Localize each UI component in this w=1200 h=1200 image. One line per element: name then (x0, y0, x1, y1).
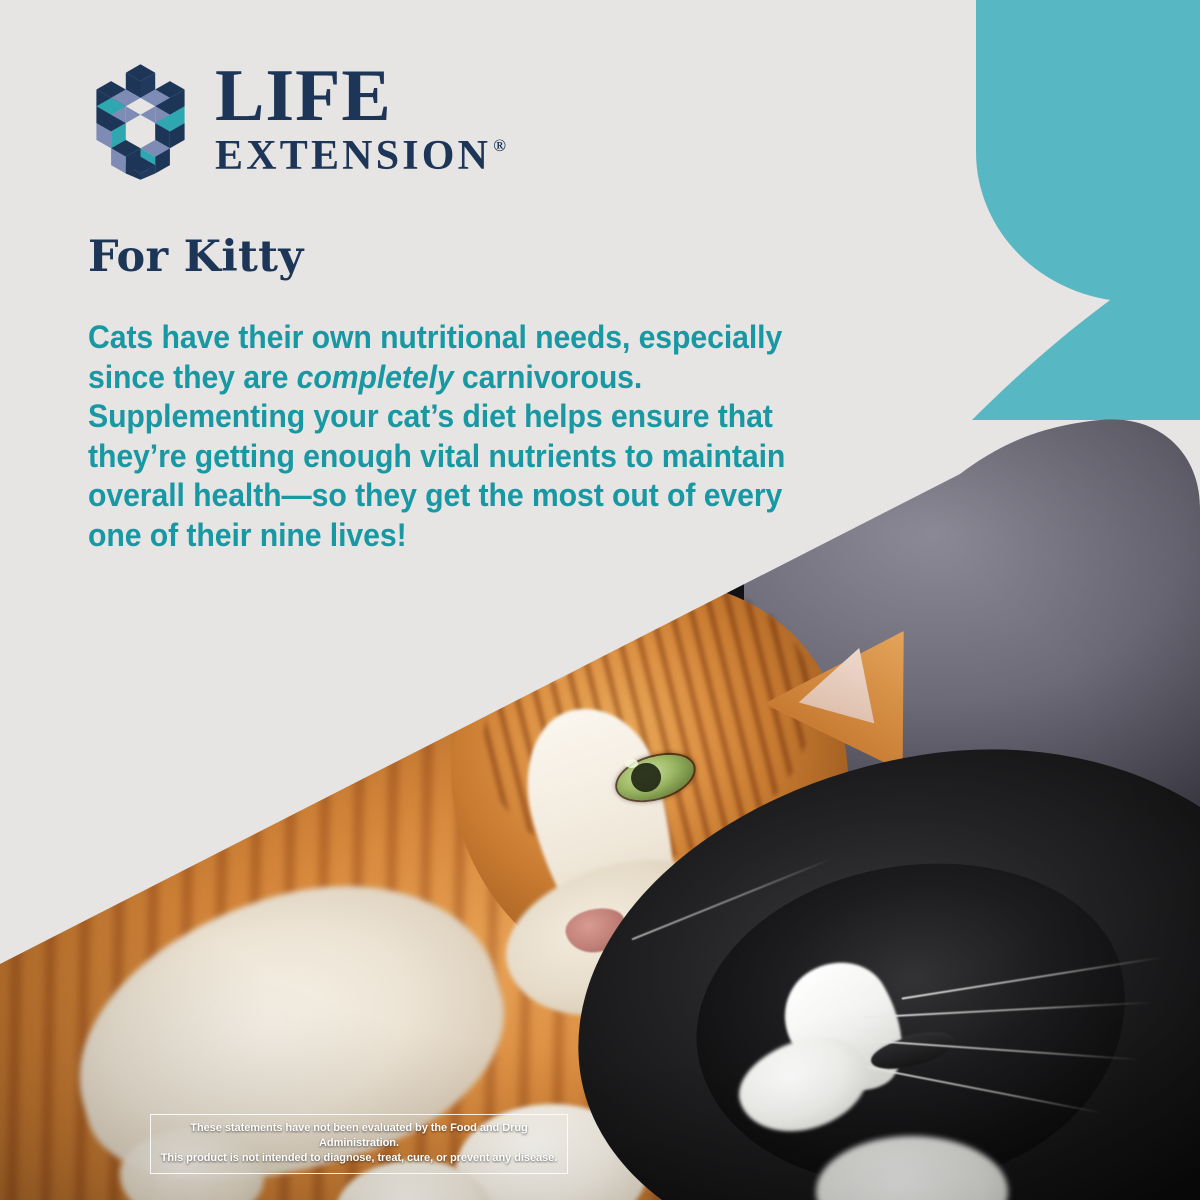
hexagon-cube-logo-icon (88, 62, 193, 180)
page-title: For Kitty (88, 232, 304, 282)
disclaimer-line-2: This product is not intended to diagnose… (159, 1151, 559, 1166)
body-emphasis: completely (297, 359, 454, 395)
brand-name-life: LIFE (215, 66, 506, 127)
fda-disclaimer: These statements have not been evaluated… (150, 1114, 568, 1174)
brand-logo[interactable]: LIFE EXTENSION ® (88, 62, 506, 180)
body-copy: Cats have their own nutritional needs, e… (88, 318, 823, 555)
orange-cat-left-ear-inner (496, 563, 556, 643)
promo-card: LIFE EXTENSION ® For Kitty Cats have the… (0, 0, 1200, 1200)
disclaimer-line-1: These statements have not been evaluated… (159, 1121, 559, 1151)
registered-trademark-icon: ® (493, 136, 506, 156)
teal-corner-shape (976, 0, 1200, 302)
brand-name-extension: EXTENSION (215, 135, 491, 177)
orange-cat-left-eye-glint (625, 759, 638, 768)
brand-wordmark: LIFE EXTENSION ® (215, 62, 506, 177)
